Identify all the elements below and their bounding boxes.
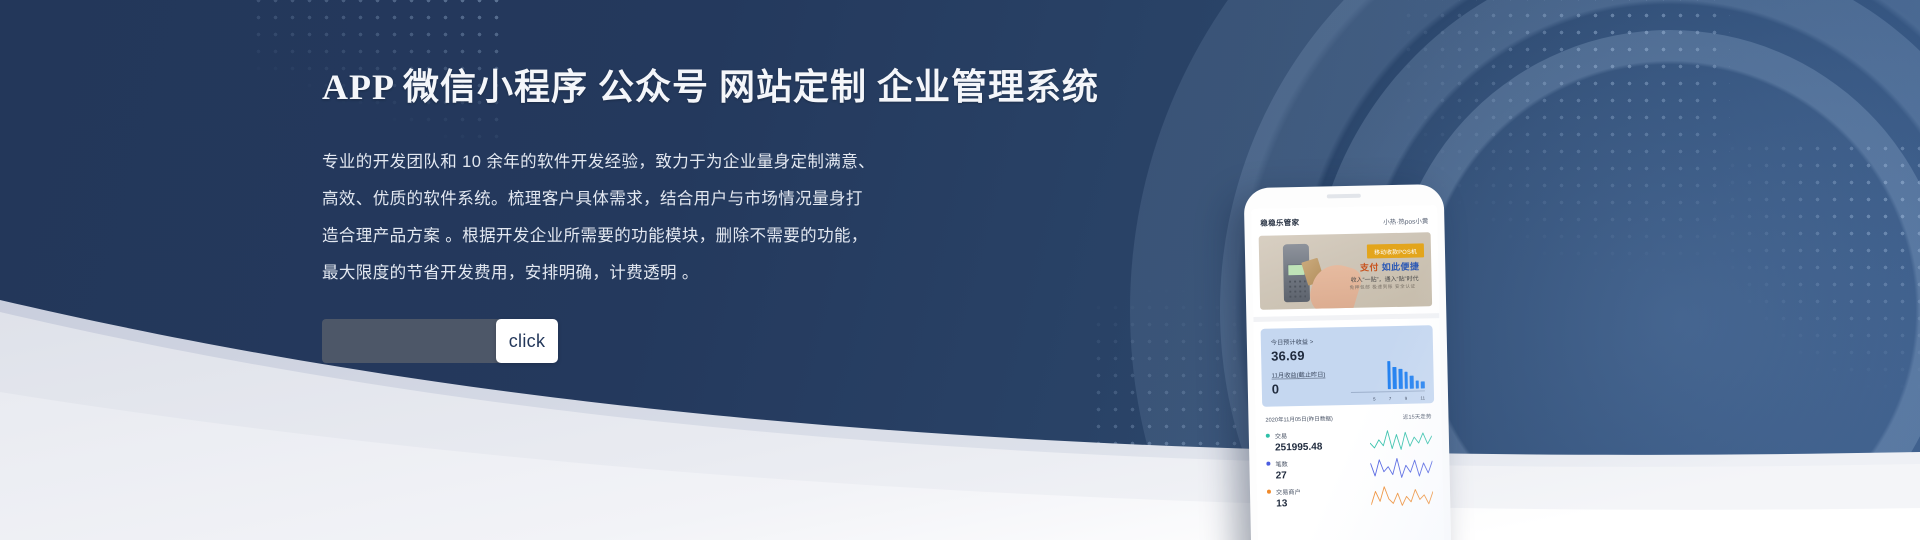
banner-tag: 移动收款POS机 (1367, 243, 1424, 258)
app-top-bar: 稳稳乐管家 小热·热pos小黄 (1251, 205, 1438, 236)
app-account-label: 小热·热pos小黄 (1383, 215, 1428, 226)
trend-row[interactable]: 交易商户13 (1257, 480, 1444, 512)
mini-tick-2: 9 (1405, 396, 1408, 401)
mini-bar-10 (1415, 380, 1419, 389)
contact-input[interactable] (322, 319, 502, 363)
trend-row-list: 交易251995.48笔数27交易商户13 (1256, 424, 1444, 512)
sparkline-交易 (1370, 428, 1432, 451)
banner-headline-accent: 支付 (1360, 262, 1379, 272)
cta-group: click (322, 319, 558, 363)
mini-bar-chart (1387, 358, 1425, 389)
description-line-2: 高效、优质的软件系统。梳理客户具体需求，结合用户与市场情况量身打 (322, 181, 1062, 218)
trend-row-value: 13 (1276, 498, 1301, 510)
description-line-3: 造合理产品方案 。根据开发企业所需要的功能模块，删除不需要的功能， (322, 218, 1062, 255)
series-dot-icon (1267, 490, 1271, 494)
hero-description: 专业的开发团队和 10 余年的软件开发经验，致力于为企业量身定制满意、 高效、优… (322, 144, 1062, 292)
click-button[interactable]: click (496, 319, 558, 363)
section-divider (1253, 313, 1439, 322)
mini-bar-5 (1387, 361, 1391, 389)
trend-date-note: 2020年11月05日(昨日数据) (1265, 414, 1333, 423)
trend-row[interactable]: 笔数27 (1256, 452, 1443, 484)
hero-copy: APP 微信小程序 公众号 网站定制 企业管理系统 专业的开发团队和 10 余年… (322, 58, 1062, 292)
pos-keypad (1288, 279, 1306, 298)
phone-speaker (1327, 194, 1361, 199)
trend-row-label: 交易商户 (1276, 487, 1301, 497)
description-line-4: 最大限度的节省开发费用，安排明确，计费透明 。 (322, 255, 1062, 292)
phone-screen: 稳稳乐管家 小热·热pos小黄 移动收款POS机 支付 如此便捷 收入“一贴”，… (1251, 205, 1445, 540)
trend-row[interactable]: 交易251995.48 (1256, 424, 1443, 456)
trend-range-note: 近15天走势 (1403, 412, 1432, 421)
promo-banner[interactable]: 移动收款POS机 支付 如此便捷 收入“一贴”，通入“贴”时代 免押包邮 极速到… (1259, 232, 1433, 310)
trend-row-value: 251995.48 (1275, 442, 1323, 454)
sparkline-交易商户 (1371, 484, 1433, 507)
trend-row-label: 交易 (1275, 431, 1322, 441)
mini-bar-6 (1393, 366, 1397, 389)
banner-subline: 收入“一贴”，通入“贴”时代 (1350, 273, 1418, 283)
mini-bar-ticks: 5 7 9 11 (1373, 395, 1425, 401)
mini-tick-3: 11 (1420, 395, 1425, 400)
today-earnings-label: 今日预计收益 > (1271, 334, 1423, 346)
series-dot-icon (1266, 434, 1270, 438)
series-dot-icon (1266, 462, 1270, 466)
page-title: APP 微信小程序 公众号 网站定制 企业管理系统 (322, 58, 1062, 110)
trend-row-label: 笔数 (1275, 459, 1288, 468)
sparkline-笔数 (1370, 456, 1432, 479)
mini-bar-11 (1421, 382, 1425, 389)
mini-tick-1: 7 (1389, 396, 1392, 401)
trend-row-value: 27 (1276, 470, 1289, 481)
mini-bar-9 (1410, 376, 1414, 389)
hero-banner: APP 微信小程序 公众号 网站定制 企业管理系统 专业的开发团队和 10 余年… (0, 0, 1920, 540)
phone-mockup: 稳稳乐管家 小热·热pos小黄 移动收款POS机 支付 如此便捷 收入“一贴”，… (1244, 184, 1453, 540)
banner-headline: 支付 如此便捷 (1360, 259, 1420, 273)
mini-bar-7 (1398, 369, 1402, 389)
banner-headline-main: 如此便捷 (1382, 261, 1420, 272)
earnings-card[interactable]: 今日预计收益 > 36.69 11月收益(截止昨日) 0 5 7 9 11 (1261, 325, 1435, 407)
banner-footnote: 免押包邮 极速到账 安全认证 (1350, 284, 1416, 291)
description-line-1: 专业的开发团队和 10 余年的软件开发经验，致力于为企业量身定制满意、 (322, 144, 1062, 181)
mini-tick-0: 5 (1373, 396, 1376, 401)
mini-bar-8 (1404, 372, 1408, 389)
app-brand-label: 稳稳乐管家 (1260, 217, 1299, 229)
